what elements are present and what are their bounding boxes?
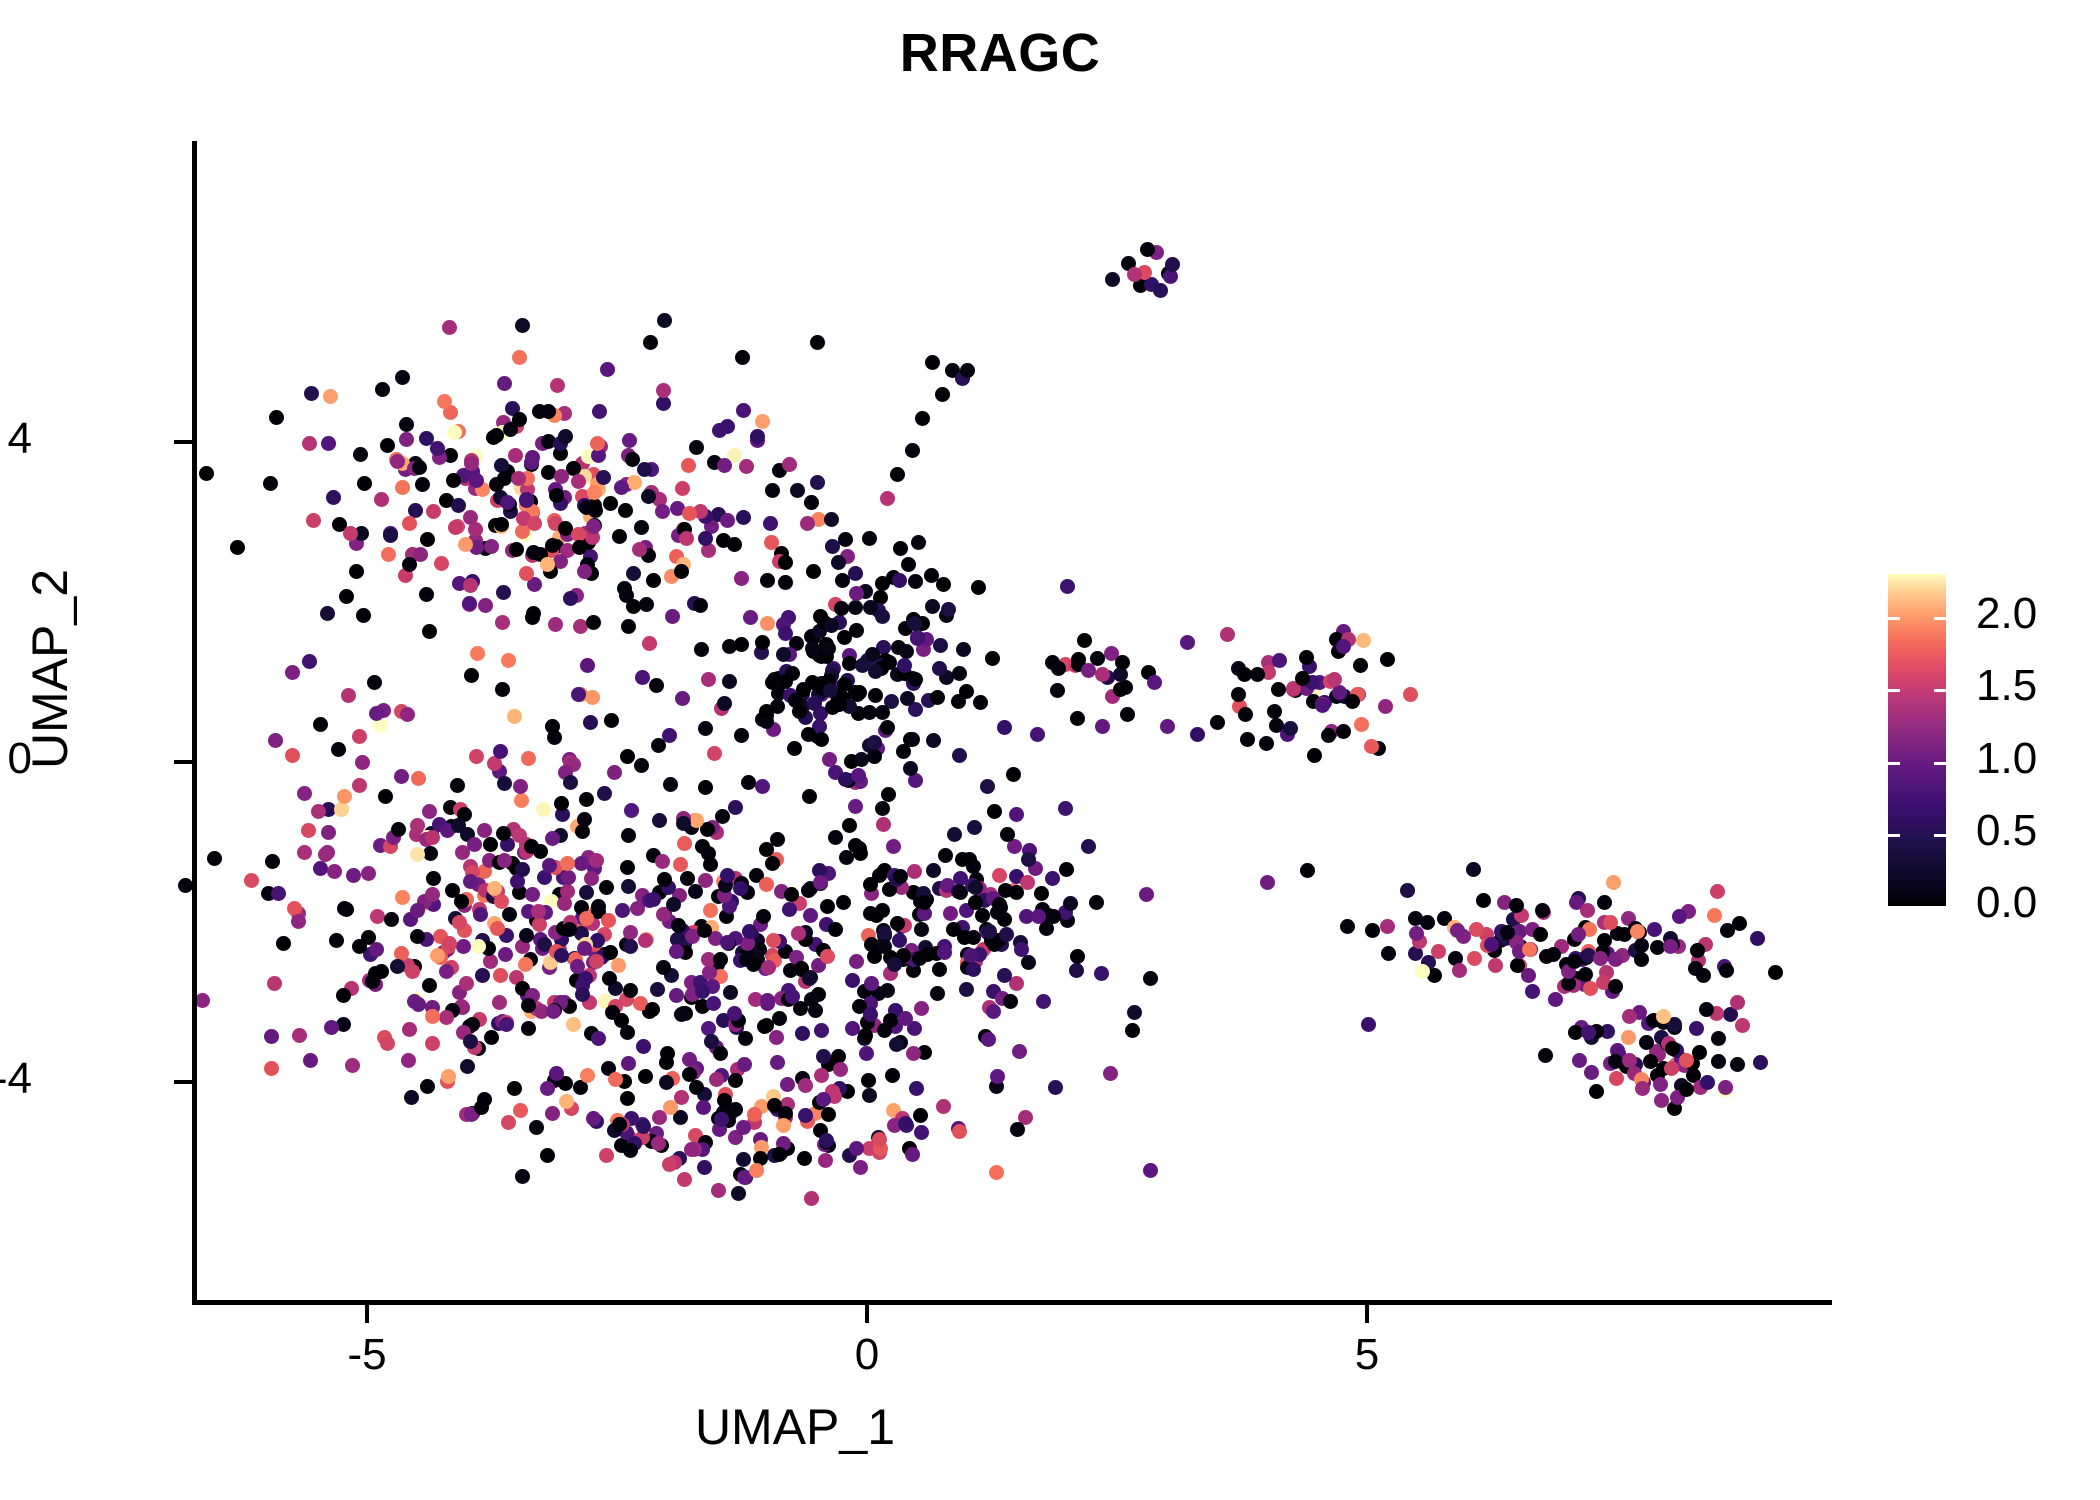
scatter-point <box>1380 652 1395 667</box>
scatter-point <box>1634 952 1649 967</box>
scatter-point <box>1045 871 1060 886</box>
scatter-point <box>816 1092 831 1107</box>
scatter-point <box>649 678 664 693</box>
scatter-point <box>620 749 635 764</box>
scatter-point <box>297 786 312 801</box>
scatter-point <box>500 495 515 510</box>
scatter-point <box>656 383 671 398</box>
scatter-point <box>1034 886 1049 901</box>
scatter-point <box>336 988 351 1003</box>
scatter-point <box>1365 923 1380 938</box>
scatter-point <box>1525 984 1540 999</box>
scatter-point <box>707 746 722 761</box>
scatter-point <box>776 1118 791 1133</box>
scatter-point <box>760 993 775 1008</box>
scatter-point <box>1336 639 1351 654</box>
scatter-point <box>574 856 589 871</box>
scatter-point <box>1332 685 1347 700</box>
scatter-point <box>548 617 563 632</box>
scatter-point <box>339 589 354 604</box>
scatter-point <box>1240 732 1255 747</box>
scatter-point <box>1452 963 1467 978</box>
colorbar-gradient <box>1888 574 1946 906</box>
scatter-point <box>698 780 713 795</box>
scatter-point <box>540 1148 555 1163</box>
scatter-point <box>780 1077 795 1092</box>
scatter-point <box>665 609 680 624</box>
scatter-point <box>394 769 409 784</box>
scatter-point <box>765 856 780 871</box>
scatter-point <box>563 775 578 790</box>
scatter-point <box>592 404 607 419</box>
scatter-point <box>329 933 344 948</box>
scatter-point <box>1272 653 1287 668</box>
scatter-point <box>460 1059 475 1074</box>
scatter-point <box>684 1142 699 1157</box>
scatter-point <box>1003 994 1018 1009</box>
scatter-point <box>1718 1080 1733 1095</box>
scatter-point <box>731 1186 746 1201</box>
scatter-point <box>267 976 282 991</box>
scatter-point <box>575 824 590 839</box>
scatter-point <box>863 877 878 892</box>
scatter-point <box>1750 931 1765 946</box>
scatter-point <box>230 540 245 555</box>
scatter-point <box>437 394 452 409</box>
scatter-point <box>402 516 417 531</box>
scatter-point <box>992 868 1007 883</box>
scatter-point <box>761 960 776 975</box>
scatter-point <box>1608 979 1623 994</box>
scatter-point <box>355 755 370 770</box>
scatter-point <box>660 1046 675 1061</box>
scatter-point <box>935 387 950 402</box>
scatter-point <box>642 636 657 651</box>
scatter-point <box>1283 721 1298 736</box>
scatter-point <box>563 591 578 606</box>
scatter-point <box>1466 862 1481 877</box>
scatter-point <box>554 948 569 963</box>
scatter-point <box>778 674 793 689</box>
scatter-point <box>264 1061 279 1076</box>
scatter-point <box>836 895 851 910</box>
scatter-point <box>778 575 793 590</box>
scatter-point <box>1467 951 1482 966</box>
scatter-point <box>579 792 594 807</box>
scatter-point <box>586 615 601 630</box>
scatter-point <box>738 1031 753 1046</box>
scatter-point <box>599 880 614 895</box>
scatter-point <box>614 480 629 495</box>
scatter-point <box>885 1068 900 1083</box>
scatter-point <box>1095 719 1110 734</box>
scatter-point <box>451 498 466 513</box>
scatter-point <box>1593 951 1608 966</box>
scatter-point <box>441 1069 456 1084</box>
scatter-point <box>849 586 864 601</box>
scatter-point <box>985 651 1000 666</box>
scatter-point <box>533 844 548 859</box>
scatter-point <box>851 768 866 783</box>
scatter-point <box>1060 579 1075 594</box>
scatter-point <box>698 721 713 736</box>
scatter-point <box>380 1036 395 1051</box>
scatter-point <box>890 916 905 931</box>
scatter-point <box>608 1072 623 1087</box>
scatter-point <box>1690 943 1705 958</box>
scatter-point <box>1094 966 1109 981</box>
scatter-point <box>694 642 709 657</box>
scatter-point <box>1583 981 1598 996</box>
scatter-point <box>772 1011 787 1026</box>
scatter-point <box>620 1025 635 1040</box>
scatter-point <box>1139 887 1154 902</box>
scatter-point <box>925 355 940 370</box>
scatter-point <box>901 557 916 572</box>
scatter-point <box>411 771 426 786</box>
scatter-point <box>930 690 945 705</box>
scatter-point <box>1548 992 1563 1007</box>
scatter-point <box>1103 1066 1118 1081</box>
scatter-point <box>1070 711 1085 726</box>
scatter-point <box>906 1046 921 1061</box>
scatter-point <box>1160 719 1175 734</box>
scatter-point <box>585 690 600 705</box>
scatter-point <box>1719 963 1734 978</box>
scatter-point <box>621 1056 636 1071</box>
scatter-point <box>875 801 890 816</box>
scatter-point <box>621 879 636 894</box>
scatter-point <box>304 386 319 401</box>
scatter-point <box>498 947 513 962</box>
scatter-point <box>493 744 508 759</box>
scatter-point <box>1730 995 1745 1010</box>
scatter-point <box>1700 1075 1715 1090</box>
scatter-point <box>621 619 636 634</box>
scatter-point <box>897 658 912 673</box>
scatter-point <box>959 982 974 997</box>
scatter-point <box>666 897 681 912</box>
scatter-point <box>1014 942 1029 957</box>
scatter-point <box>632 542 647 557</box>
scatter-point <box>425 830 440 845</box>
scatter-point <box>547 730 562 745</box>
scatter-point <box>579 885 594 900</box>
scatter-point <box>635 670 650 685</box>
scatter-point <box>932 661 947 676</box>
scatter-point <box>503 422 518 437</box>
scatter-point <box>952 1124 967 1139</box>
scatter-point <box>755 414 770 429</box>
scatter-point <box>797 1151 812 1166</box>
scatter-point <box>1090 651 1105 666</box>
scatter-point <box>617 581 632 596</box>
scatter-point <box>545 538 560 553</box>
scatter-point <box>909 1081 924 1096</box>
scatter-point <box>1639 1035 1654 1050</box>
scatter-point <box>925 599 940 614</box>
scatter-point <box>703 903 718 918</box>
scatter-point <box>717 696 732 711</box>
scatter-point <box>532 917 547 932</box>
scatter-point <box>713 1046 728 1061</box>
scatter-point <box>987 804 1002 819</box>
scatter-point <box>759 877 774 892</box>
scatter-point <box>515 1169 530 1184</box>
scatter-point <box>905 1147 920 1162</box>
scatter-point <box>813 875 828 890</box>
scatter-point <box>915 411 930 426</box>
scatter-point <box>591 1031 606 1046</box>
color-legend: 2.01.51.00.50.0 <box>1888 574 2088 914</box>
scatter-point <box>1522 942 1537 957</box>
scatter-point <box>1768 965 1783 980</box>
scatter-point <box>849 954 864 969</box>
scatter-point <box>601 913 616 928</box>
scatter-point <box>655 504 670 519</box>
scatter-point <box>1050 683 1065 698</box>
scatter-point <box>375 382 390 397</box>
scatter-point <box>880 983 895 998</box>
scatter-point <box>343 526 358 541</box>
scatter-point <box>1006 767 1021 782</box>
scatter-point <box>739 952 754 967</box>
scatter-point <box>419 587 434 602</box>
scatter-point <box>657 313 672 328</box>
scatter-point <box>1403 687 1418 702</box>
scatter-point <box>321 825 336 840</box>
scatter-point <box>693 598 708 613</box>
scatter-point <box>521 1021 536 1036</box>
scatter-point <box>566 1017 581 1032</box>
scatter-point <box>682 506 697 521</box>
scatter-point <box>702 965 717 980</box>
scatter-point <box>1653 1077 1668 1092</box>
scatter-point <box>494 517 509 532</box>
scatter-point <box>469 749 484 764</box>
scatter-point <box>1210 715 1225 730</box>
scatter-point <box>423 846 438 861</box>
scatter-point <box>1707 908 1722 923</box>
scatter-point <box>439 1010 454 1025</box>
scatter-point <box>1578 967 1593 982</box>
scatter-point <box>395 370 410 385</box>
scatter-point <box>513 1103 528 1118</box>
scatter-point <box>399 417 414 432</box>
scatter-point <box>862 1088 877 1103</box>
scatter-point <box>291 914 306 929</box>
scatter-point <box>907 616 922 631</box>
scatter-point <box>1153 283 1168 298</box>
scatter-point <box>728 1102 743 1117</box>
colorbar-tick <box>1934 834 1946 837</box>
scatter-point <box>1535 903 1550 918</box>
scatter-point <box>430 948 445 963</box>
scatter-point <box>590 436 605 451</box>
scatter-point <box>1354 717 1369 732</box>
scatter-point <box>755 779 770 794</box>
colorbar-tick <box>1934 762 1946 765</box>
scatter-point <box>1143 1163 1158 1178</box>
scatter-point <box>650 982 665 997</box>
scatter-point <box>244 873 259 888</box>
scatter-point <box>930 986 945 1001</box>
scatter-point <box>374 492 389 507</box>
scatter-point <box>943 906 958 921</box>
scatter-point <box>735 350 750 365</box>
scatter-point <box>513 779 528 794</box>
scatter-point <box>828 922 843 937</box>
scatter-point <box>492 995 507 1010</box>
scatter-point <box>722 639 737 654</box>
scatter-point <box>623 925 638 940</box>
scatter-point <box>1045 655 1060 670</box>
scatter-point <box>1572 1053 1587 1068</box>
scatter-point <box>508 448 523 463</box>
scatter-point <box>470 646 485 661</box>
scatter-point <box>526 545 541 560</box>
scatter-point <box>1000 827 1015 842</box>
scatter-point <box>805 641 820 656</box>
scatter-point <box>603 496 618 511</box>
scatter-point <box>1654 1093 1669 1108</box>
scatter-point <box>645 1002 660 1017</box>
scatter-point <box>1081 839 1096 854</box>
scatter-point <box>560 856 575 871</box>
scatter-point <box>634 520 649 535</box>
scatter-point <box>720 419 735 434</box>
scatter-point <box>1672 909 1687 924</box>
colorbar-tick <box>1888 689 1900 692</box>
colorbar-tick <box>1934 689 1946 692</box>
scatter-point <box>839 850 854 865</box>
scatter-point <box>621 828 636 843</box>
scatter-point <box>442 320 457 335</box>
scatter-point <box>662 1157 677 1172</box>
scatter-point <box>867 749 882 764</box>
scatter-point <box>341 688 356 703</box>
scatter-point <box>263 476 278 491</box>
scatter-point <box>852 685 867 700</box>
scatter-point <box>1488 958 1503 973</box>
scatter-point <box>1095 667 1110 682</box>
scatter-point <box>195 993 210 1008</box>
x-tick-label: 5 <box>1307 1330 1427 1380</box>
scatter-point <box>285 748 300 763</box>
scatter-point <box>586 519 601 534</box>
scatter-point <box>265 854 280 869</box>
scatter-point <box>1584 1065 1599 1080</box>
scatter-point <box>545 831 560 846</box>
scatter-point <box>306 513 321 528</box>
y-tick-label: 4 <box>8 414 32 464</box>
scatter-point <box>1450 923 1465 938</box>
colorbar-tick <box>1934 617 1946 620</box>
scatter-point <box>369 942 384 957</box>
scatter-point <box>952 748 967 763</box>
scatter-point <box>515 862 530 877</box>
scatter-point <box>1327 672 1342 687</box>
scatter-point <box>410 847 425 862</box>
scatter-point <box>933 638 948 653</box>
scatter-point <box>380 438 395 453</box>
scatter-point <box>806 564 821 579</box>
scatter-point <box>331 742 346 757</box>
scatter-point <box>292 1028 307 1043</box>
y-tick-mark <box>174 1080 192 1084</box>
scatter-point <box>571 474 586 489</box>
scatter-point <box>803 908 818 923</box>
scatter-point <box>905 443 920 458</box>
scatter-point <box>381 547 396 562</box>
scatter-point <box>545 1106 560 1121</box>
scatter-point <box>824 618 839 633</box>
scatter-point <box>464 668 479 683</box>
scatter-point <box>618 503 633 518</box>
scatter-point <box>1679 1082 1694 1097</box>
scatter-point <box>914 1001 929 1016</box>
scatter-point <box>837 630 852 645</box>
scatter-point <box>677 1172 692 1187</box>
scatter-point <box>1058 801 1073 816</box>
scatter-point <box>370 909 385 924</box>
x-tick-mark <box>1365 1305 1369 1323</box>
scatter-point <box>1581 1025 1596 1040</box>
scatter-point <box>605 1005 620 1020</box>
scatter-point <box>1469 922 1484 937</box>
scatter-point <box>1250 667 1265 682</box>
scatter-point <box>623 1143 638 1158</box>
scatter-point <box>1567 954 1582 969</box>
scatter-point <box>353 447 368 462</box>
scatter-point <box>303 1053 318 1068</box>
scatter-point <box>554 469 569 484</box>
scatter-point <box>268 733 283 748</box>
scatter-point <box>804 495 819 510</box>
scatter-point <box>639 597 654 612</box>
scatter-point <box>749 1163 764 1178</box>
scatter-point <box>484 539 499 554</box>
scatter-point <box>623 939 638 954</box>
scatter-point <box>663 777 678 792</box>
scatter-point <box>402 557 417 572</box>
scatter-point <box>688 884 703 899</box>
scatter-point <box>875 903 890 918</box>
scatter-point <box>558 429 573 444</box>
scatter-point <box>495 682 510 697</box>
colorbar-label: 0.5 <box>1976 806 2037 856</box>
scatter-point <box>800 516 815 531</box>
scatter-point <box>405 964 420 979</box>
scatter-point <box>1315 698 1330 713</box>
x-tick-mark <box>365 1305 369 1323</box>
scatter-point <box>859 1046 874 1061</box>
scatter-point <box>509 542 524 557</box>
scatter-point <box>1009 807 1024 822</box>
scatter-point <box>402 1022 417 1037</box>
scatter-point <box>997 968 1012 983</box>
scatter-point <box>784 887 799 902</box>
scatter-point <box>469 473 484 488</box>
scatter-point <box>756 909 771 924</box>
scatter-point <box>540 1081 555 1096</box>
scatter-point <box>450 778 465 793</box>
scatter-point <box>1353 658 1368 673</box>
colorbar-tick <box>1888 906 1900 909</box>
scatter-point <box>785 989 800 1004</box>
scatter-point <box>434 556 449 571</box>
scatter-point <box>907 864 922 879</box>
